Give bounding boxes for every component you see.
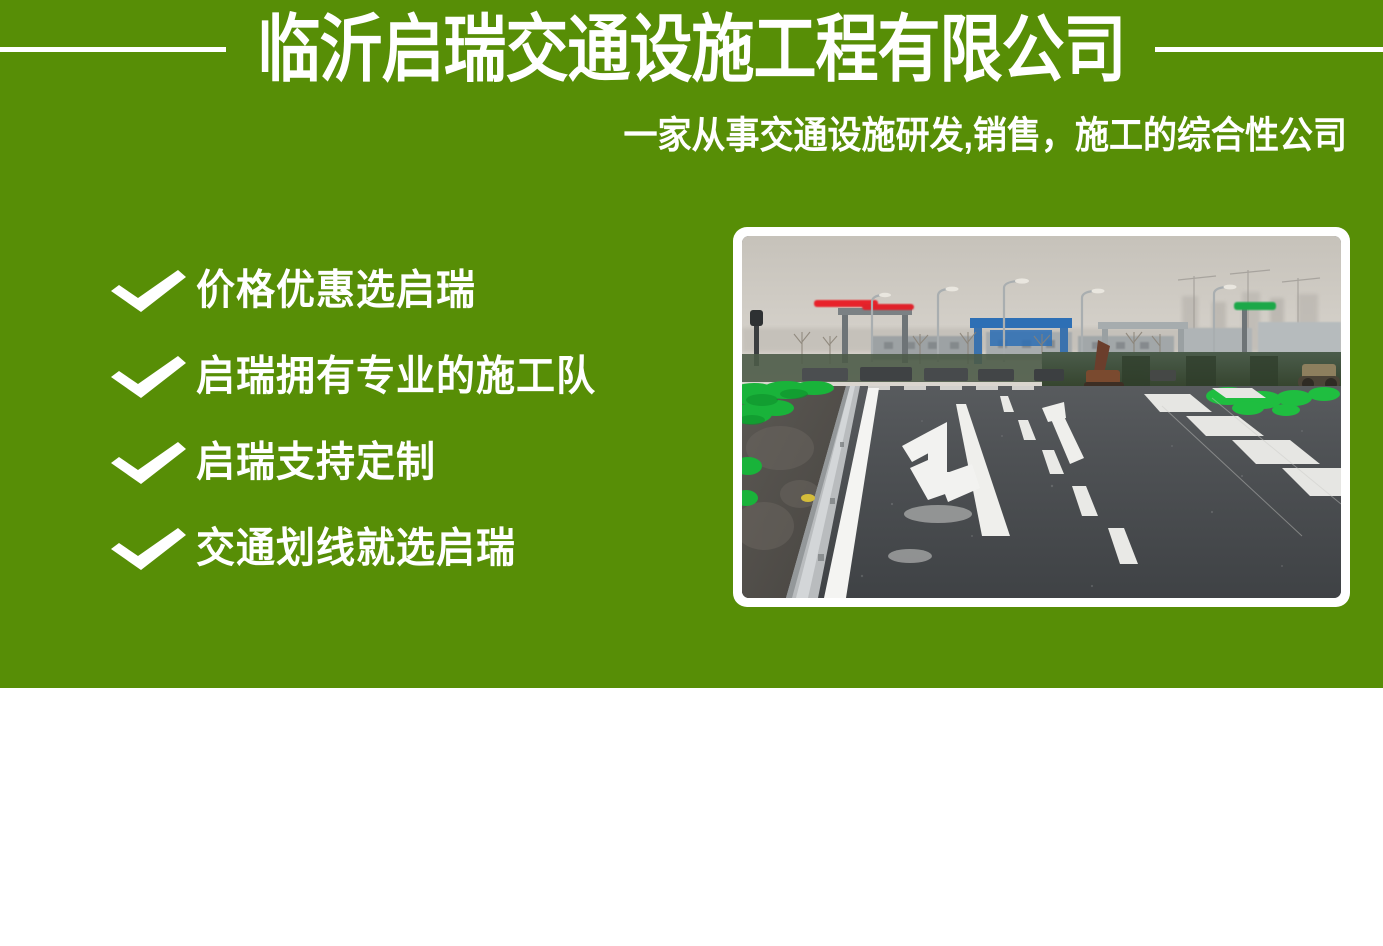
company-title: 临沂启瑞交通设施工程有限公司	[0, 1, 1383, 98]
feature-label: 启瑞支持定制	[196, 435, 436, 491]
company-tagline: 一家从事交通设施研发,销售，施工的综合性公司	[624, 111, 1347, 162]
feature-label: 启瑞拥有专业的施工队	[196, 349, 596, 405]
check-icon	[108, 265, 196, 317]
feature-list: 价格优惠选启瑞 启瑞拥有专业的施工队 启瑞支持定制	[108, 248, 708, 592]
feature-item-team: 启瑞拥有专业的施工队	[108, 334, 708, 420]
check-icon	[108, 351, 196, 403]
feature-item-road-marking: 交通划线就选启瑞	[108, 506, 708, 592]
check-icon	[108, 523, 196, 575]
check-icon	[108, 437, 196, 489]
feature-label: 交通划线就选启瑞	[196, 521, 516, 577]
feature-item-price: 价格优惠选启瑞	[108, 248, 708, 334]
company-promo-banner: 临沂启瑞交通设施工程有限公司 一家从事交通设施研发,销售，施工的综合性公司 价格…	[0, 0, 1383, 946]
photo-card	[733, 227, 1350, 607]
feature-item-custom: 启瑞支持定制	[108, 420, 708, 506]
title-row: 临沂启瑞交通设施工程有限公司	[0, 8, 1383, 92]
road-marking-project-photo	[742, 236, 1341, 598]
feature-label: 价格优惠选启瑞	[196, 263, 476, 319]
